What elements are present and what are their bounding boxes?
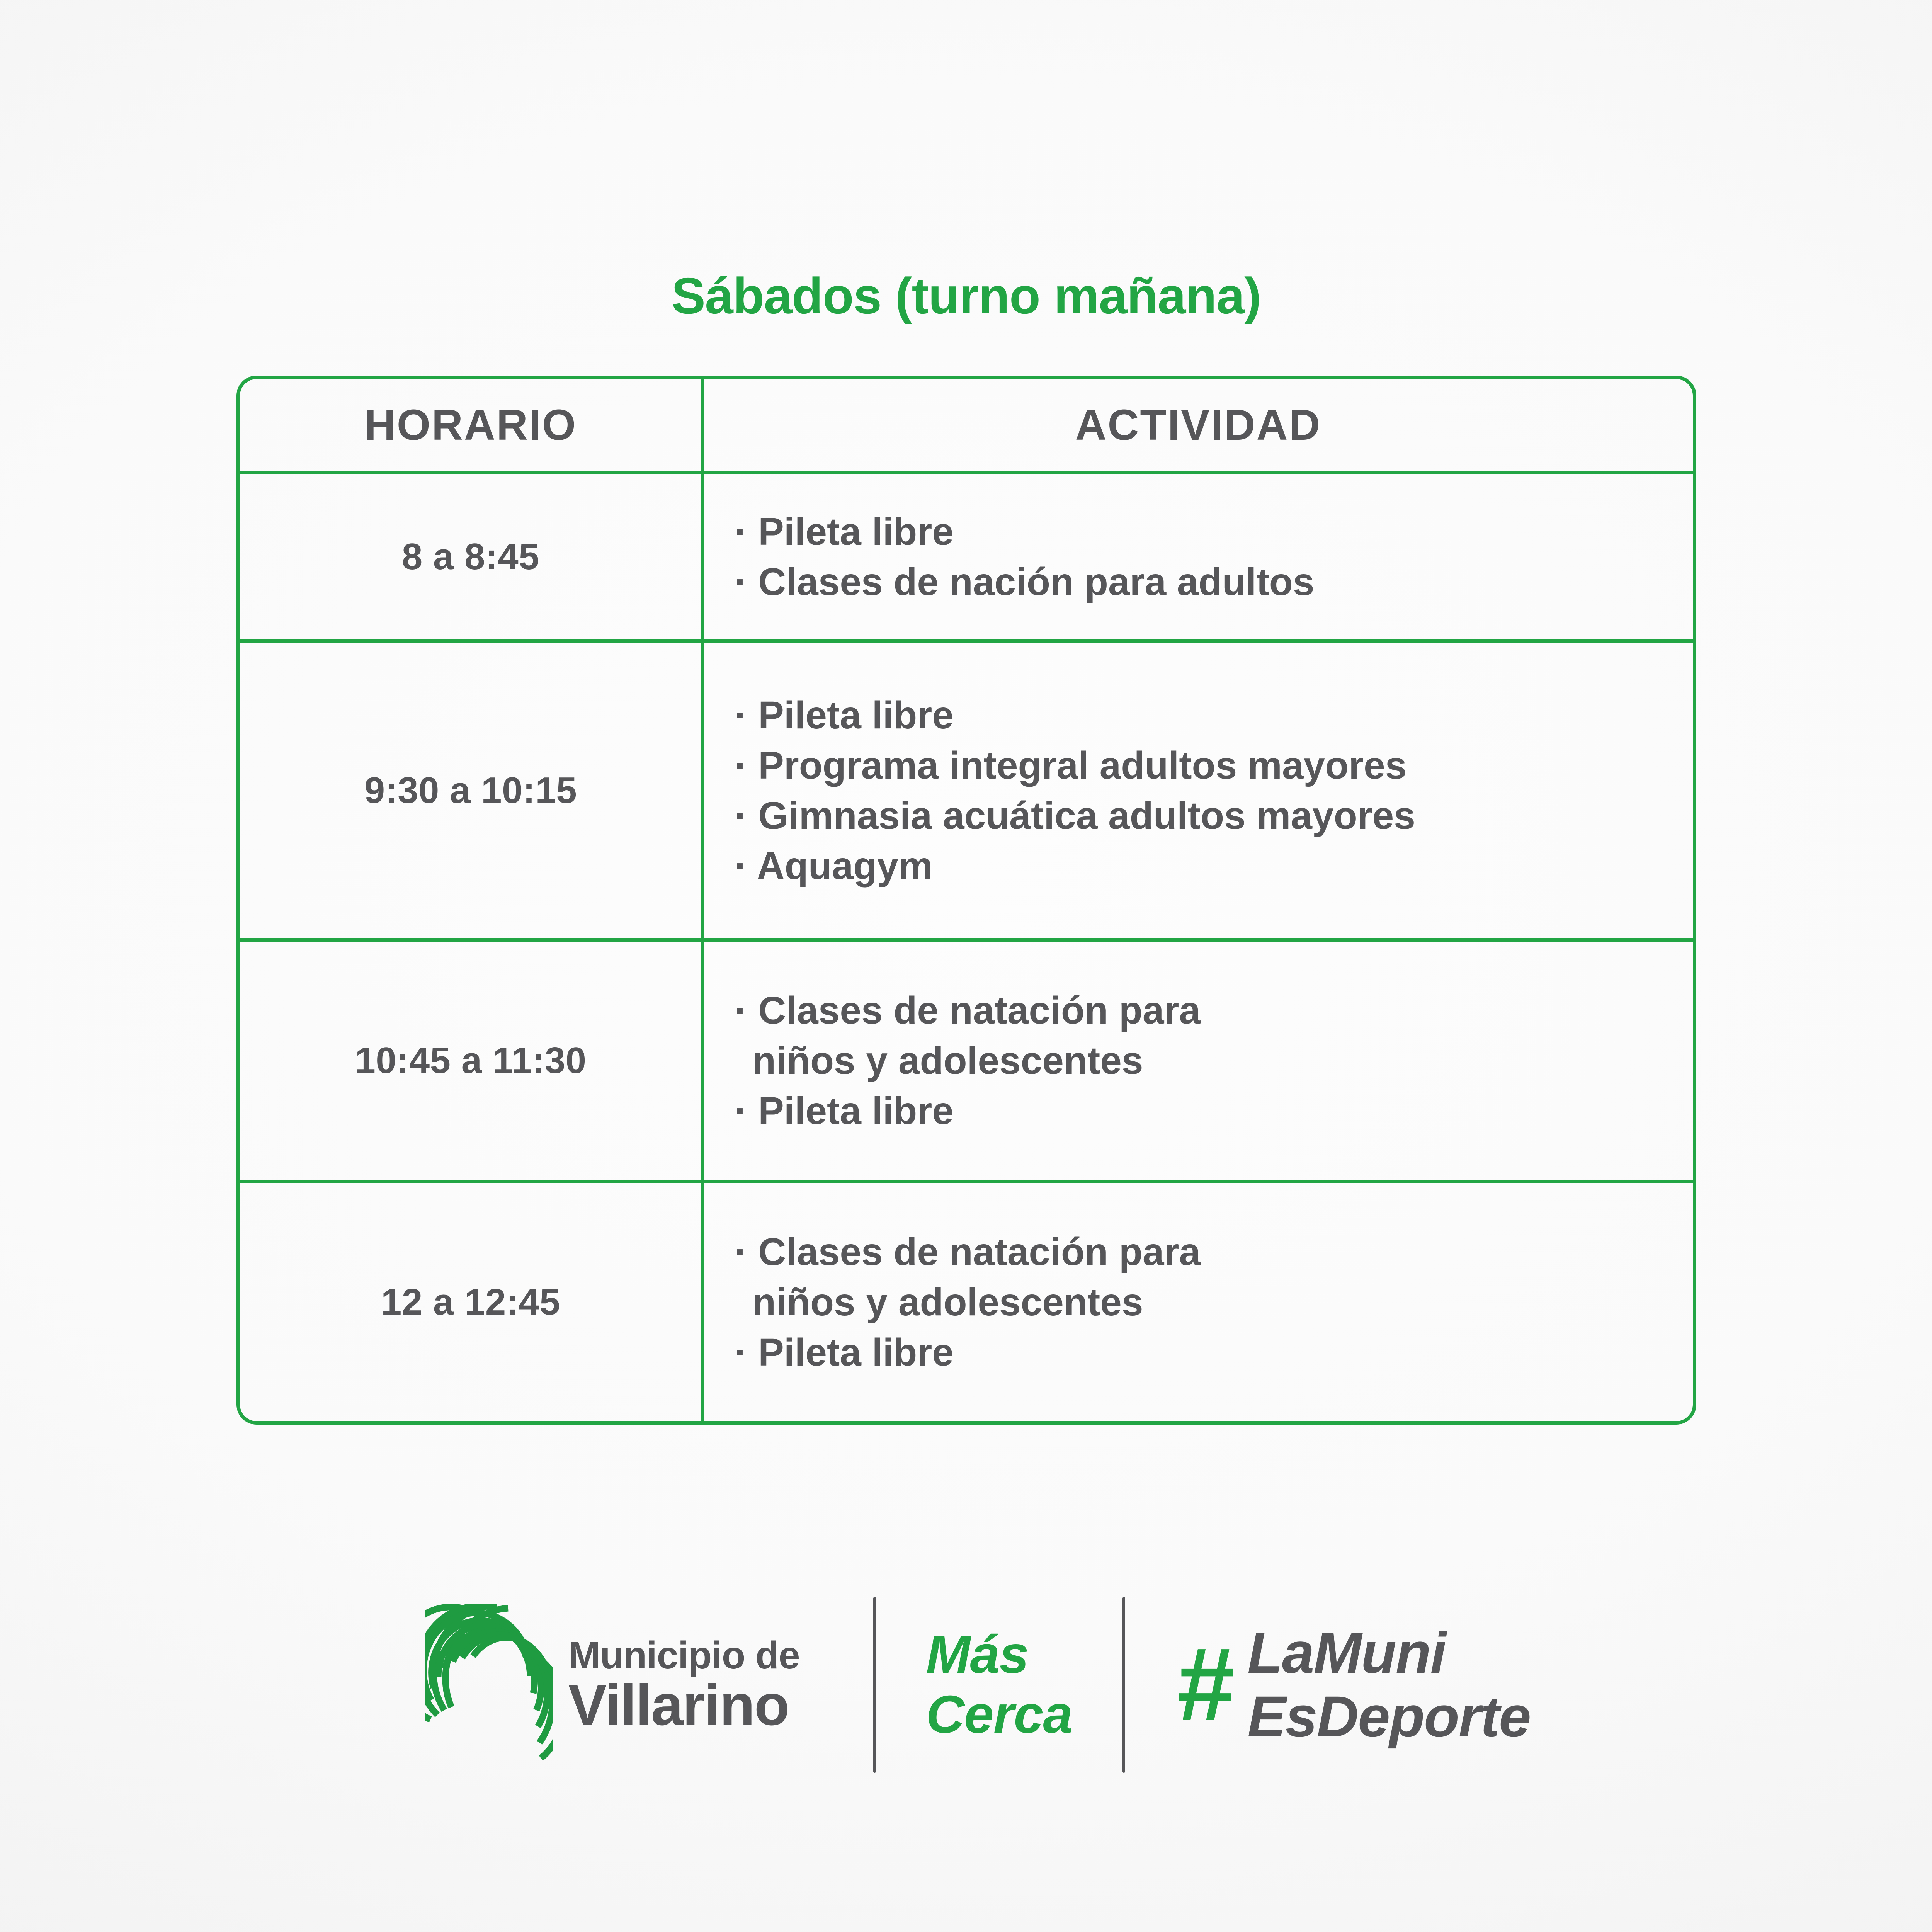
table-row: 9:30 a 10:15 · Pileta libre · Programa i… bbox=[240, 643, 1693, 942]
activity-item: · Pileta libre bbox=[735, 507, 1677, 557]
hashtag-wordmark: LaMuni EsDeporte bbox=[1247, 1621, 1530, 1748]
hashtag-block: # LaMuni EsDeporte bbox=[1175, 1577, 1530, 1793]
cell-time: 12 a 12:45 bbox=[240, 1183, 704, 1421]
table-row: 10:45 a 11:30 · Clases de natación para … bbox=[240, 942, 1693, 1183]
cell-activities: · Clases de natación para niños y adoles… bbox=[704, 1183, 1693, 1421]
activity-item: · Pileta libre bbox=[735, 690, 1677, 740]
slogan-block: Más Cerca bbox=[926, 1577, 1073, 1793]
activity-item: · Clases de nación para adultos bbox=[735, 557, 1677, 607]
cell-time: 8 a 8:45 bbox=[240, 474, 704, 639]
cell-activities: · Pileta libre · Programa integral adult… bbox=[704, 643, 1693, 938]
footer-divider-1 bbox=[873, 1597, 876, 1773]
schedule-table: HORARIO ACTIVIDAD 8 a 8:45 · Pileta libr… bbox=[236, 376, 1696, 1425]
slogan-line-2: Cerca bbox=[926, 1685, 1073, 1745]
municipality-wordmark: Municipio de Villarino bbox=[568, 1636, 799, 1733]
municipality-line-1: Municipio de bbox=[568, 1636, 799, 1674]
page-title: Sábados (turno mañana) bbox=[0, 267, 1932, 325]
hashtag-line-1: LaMuni bbox=[1247, 1621, 1530, 1685]
poster-root: Sábados (turno mañana) HORARIO ACTIVIDAD… bbox=[0, 0, 1932, 1932]
hashtag-line-2: EsDeporte bbox=[1247, 1685, 1530, 1748]
table-row: 8 a 8:45 · Pileta libre · Clases de naci… bbox=[240, 474, 1693, 643]
footer: Municipio de Villarino Más Cerca # LaMun… bbox=[0, 1577, 1932, 1793]
fingerprint-icon bbox=[425, 1604, 553, 1766]
column-header-horario: HORARIO bbox=[240, 379, 704, 471]
activity-item: · Aquagym bbox=[735, 841, 1677, 891]
activity-item: · Pileta libre bbox=[735, 1086, 1677, 1136]
column-header-actividad: ACTIVIDAD bbox=[704, 379, 1693, 471]
slogan-wordmark: Más Cerca bbox=[926, 1625, 1073, 1744]
municipality-logo-block: Municipio de Villarino bbox=[402, 1577, 823, 1793]
cell-time: 10:45 a 11:30 bbox=[240, 942, 704, 1180]
municipality-line-2: Villarino bbox=[568, 1677, 799, 1733]
cell-activities: · Clases de natación para niños y adoles… bbox=[704, 942, 1693, 1180]
cell-activities: · Pileta libre · Clases de nación para a… bbox=[704, 474, 1693, 639]
footer-divider-2 bbox=[1122, 1597, 1125, 1773]
activity-item: · Programa integral adultos mayores bbox=[735, 740, 1677, 791]
activity-item: · Clases de natación para niños y adoles… bbox=[735, 985, 1677, 1086]
hash-icon: # bbox=[1175, 1642, 1231, 1727]
table-header-row: HORARIO ACTIVIDAD bbox=[240, 379, 1693, 474]
slogan-line-1: Más bbox=[926, 1625, 1073, 1685]
cell-time: 9:30 a 10:15 bbox=[240, 643, 704, 938]
activity-item: · Clases de natación para niños y adoles… bbox=[735, 1227, 1677, 1327]
table-row: 12 a 12:45 · Clases de natación para niñ… bbox=[240, 1183, 1693, 1421]
activity-item: · Pileta libre bbox=[735, 1327, 1677, 1378]
activity-item: · Gimnasia acuática adultos mayores bbox=[735, 791, 1677, 841]
